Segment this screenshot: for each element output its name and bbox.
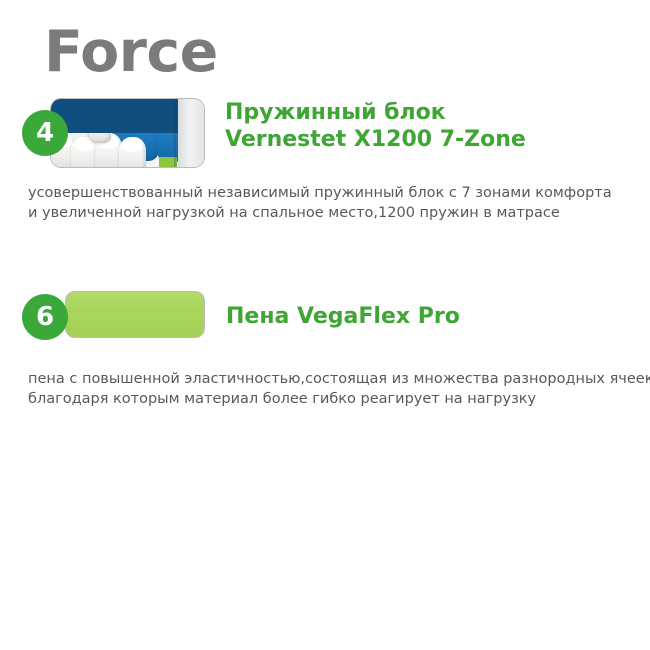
spring-gap-shadow <box>51 99 186 133</box>
feature-badge-4: 4 <box>22 110 68 156</box>
spring-block-endcap <box>178 99 204 167</box>
spring-block-illustration <box>50 98 205 168</box>
page-title: Force <box>44 24 218 81</box>
feature-description-line1: усовершенствованный независимый пружинны… <box>28 183 612 203</box>
feature-description-line2: благодаря которым материал более гибко р… <box>28 389 650 409</box>
feature-description-line1: пена с повышенной эластичностью,состояща… <box>28 369 650 389</box>
feature-heading-line2: Vernestet X1200 7-Zone <box>225 126 526 153</box>
spring-cylinder-white <box>119 137 146 168</box>
feature-badge-6: 6 <box>22 294 68 340</box>
feature-description-line2: и увеличенной нагрузкой на спальное мест… <box>28 203 612 223</box>
feature-badge-number: 4 <box>36 120 54 146</box>
feature-heading-line1: Пружинный блок <box>225 100 446 125</box>
feature-heading-line1: Пена VegaFlex Pro <box>226 304 460 329</box>
feature-badge-number: 6 <box>36 304 54 330</box>
foam-block-illustration <box>65 291 205 338</box>
feature-heading-spring: Пружинный блок Vernestet X1200 7-Zone <box>225 99 526 153</box>
feature-heading-foam: Пена VegaFlex Pro <box>226 303 460 330</box>
feature-description-foam: пена с повышенной эластичностью,состояща… <box>28 369 650 409</box>
feature-description-spring: усовершенствованный независимый пружинны… <box>28 183 612 223</box>
